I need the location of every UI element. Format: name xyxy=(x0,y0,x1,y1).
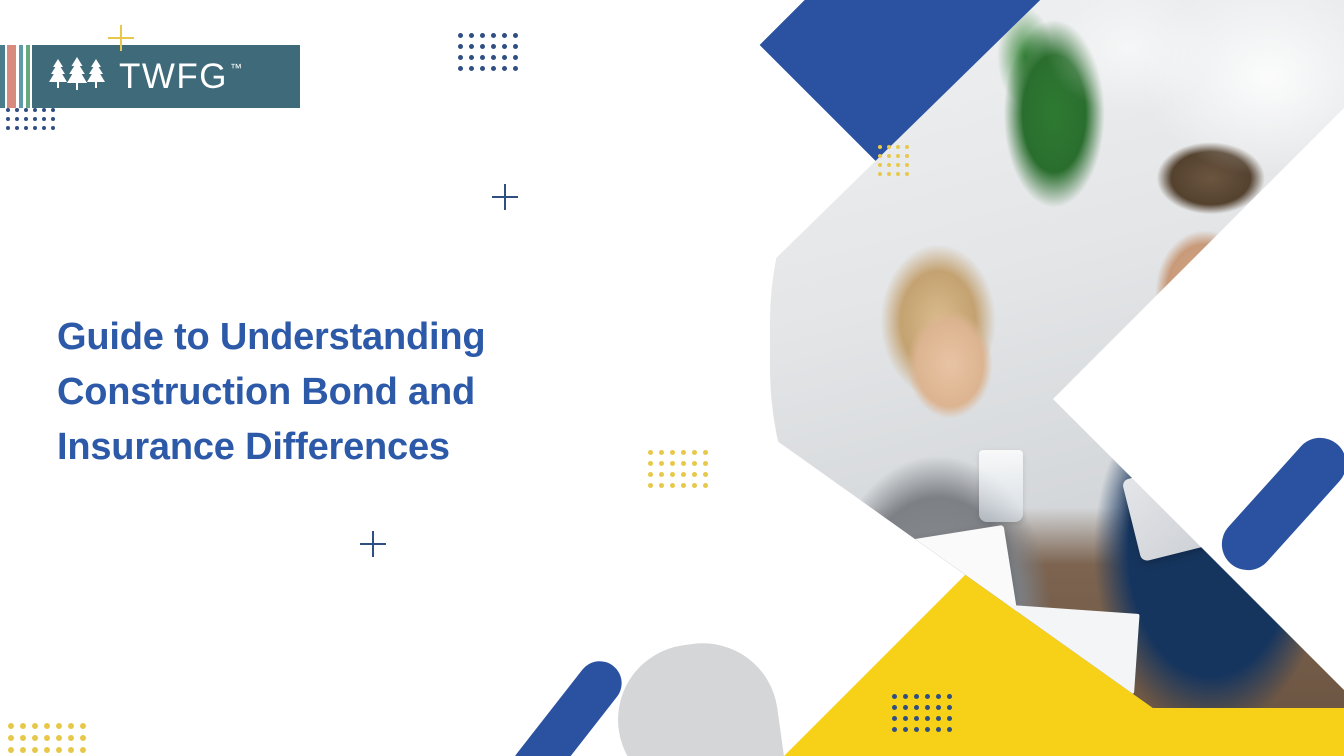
decor-dot xyxy=(56,723,62,729)
decor-dot xyxy=(458,33,463,38)
decor-dot xyxy=(947,694,952,699)
decor-dot xyxy=(936,716,941,721)
decor-dot xyxy=(648,483,653,488)
blue-pill-bottom-shape xyxy=(503,652,630,756)
logo-wordmark-text: TWFG xyxy=(119,59,228,94)
decor-dot xyxy=(502,33,507,38)
decor-dot xyxy=(905,163,909,167)
decor-dot xyxy=(502,44,507,49)
decor-dot xyxy=(703,472,708,477)
decor-dot xyxy=(33,108,37,112)
decor-dot xyxy=(469,33,474,38)
decor-dot xyxy=(24,126,28,130)
hero-artwork xyxy=(740,0,1344,756)
decor-dot xyxy=(68,723,74,729)
decor-dot xyxy=(878,145,882,149)
decor-dot xyxy=(491,55,496,60)
decor-dot xyxy=(32,723,38,729)
decor-dot xyxy=(692,450,697,455)
decor-dot xyxy=(80,747,86,753)
decor-dot xyxy=(905,154,909,158)
decor-dot xyxy=(458,66,463,71)
decor-dot xyxy=(80,735,86,741)
decor-dot xyxy=(6,117,10,121)
decor-dot xyxy=(892,727,897,732)
decor-dot xyxy=(925,705,930,710)
decor-dot xyxy=(903,727,908,732)
decor-dot xyxy=(892,705,897,710)
decor-dot xyxy=(947,716,952,721)
water-glass xyxy=(979,450,1023,522)
decor-dot xyxy=(491,44,496,49)
decor-dot xyxy=(878,172,882,176)
decor-dot xyxy=(56,735,62,741)
decor-dot xyxy=(681,472,686,477)
decor-dot xyxy=(56,747,62,753)
decor-dot xyxy=(692,483,697,488)
decor-dot xyxy=(659,450,664,455)
logo-wordmark: TWFG ™ xyxy=(119,59,242,94)
decor-dot xyxy=(914,716,919,721)
decor-dot xyxy=(42,126,46,130)
decor-dot xyxy=(20,747,26,753)
decor-dot xyxy=(15,108,19,112)
decor-dot xyxy=(892,716,897,721)
decor-dot xyxy=(80,723,86,729)
decor-dot xyxy=(936,694,941,699)
decor-dot xyxy=(914,694,919,699)
plus-yellow-top xyxy=(108,25,134,51)
decor-dot xyxy=(20,735,26,741)
decor-dot xyxy=(887,154,891,158)
decor-dot xyxy=(32,735,38,741)
decor-dot xyxy=(513,55,518,60)
decor-dot xyxy=(8,747,14,753)
decor-dot xyxy=(6,108,10,112)
decor-dot xyxy=(887,145,891,149)
decor-dot xyxy=(51,126,55,130)
decor-dot xyxy=(648,461,653,466)
decor-dot xyxy=(896,172,900,176)
decor-dot xyxy=(33,117,37,121)
dot-grid-yellow-bottom-left xyxy=(8,723,92,756)
decor-dot xyxy=(703,483,708,488)
decor-dot xyxy=(502,66,507,71)
decor-dot xyxy=(51,117,55,121)
decor-dot xyxy=(24,108,28,112)
decor-dot xyxy=(925,727,930,732)
twfg-logo[interactable]: TWFG ™ xyxy=(0,45,300,108)
decor-dot xyxy=(659,461,664,466)
decor-dot xyxy=(659,483,664,488)
trademark-symbol: ™ xyxy=(230,62,242,74)
decor-dot xyxy=(692,472,697,477)
decor-dot xyxy=(670,472,675,477)
decor-dot xyxy=(502,55,507,60)
dot-grid-yellow-mid xyxy=(648,450,714,494)
decor-dot xyxy=(480,66,485,71)
decor-dot xyxy=(480,33,485,38)
decor-dot xyxy=(914,727,919,732)
decor-dot xyxy=(24,117,28,121)
decor-dot xyxy=(681,483,686,488)
decor-dot xyxy=(42,108,46,112)
dot-grid-yellow-photo xyxy=(878,145,914,181)
decor-dot xyxy=(670,450,675,455)
decor-dot xyxy=(892,694,897,699)
three-pine-trees-icon xyxy=(46,57,108,97)
decor-dot xyxy=(458,55,463,60)
decor-dot xyxy=(491,66,496,71)
decor-dot xyxy=(681,461,686,466)
decor-dot xyxy=(903,705,908,710)
decor-dot xyxy=(947,705,952,710)
decor-dot xyxy=(692,461,697,466)
decor-dot xyxy=(648,472,653,477)
decor-dot xyxy=(887,172,891,176)
decor-dot xyxy=(8,723,14,729)
decor-dot xyxy=(20,723,26,729)
decor-dot xyxy=(896,145,900,149)
decor-dot xyxy=(469,44,474,49)
decor-dot xyxy=(703,450,708,455)
page-title: Guide to Understanding Construction Bond… xyxy=(57,310,617,475)
decor-dot xyxy=(925,716,930,721)
plus-blue-mid xyxy=(492,184,518,210)
decor-dot xyxy=(878,154,882,158)
decor-dot xyxy=(6,126,10,130)
decor-dot xyxy=(51,108,55,112)
decor-dot xyxy=(32,747,38,753)
decor-dot xyxy=(905,172,909,176)
decor-dot xyxy=(44,723,50,729)
decor-dot xyxy=(703,461,708,466)
decor-dot xyxy=(68,747,74,753)
dot-grid-navy-logo xyxy=(6,108,60,135)
decor-dot xyxy=(33,126,37,130)
decor-dot xyxy=(480,55,485,60)
decor-dot xyxy=(68,735,74,741)
plus-blue-low xyxy=(360,531,386,557)
decor-dot xyxy=(44,747,50,753)
decor-dot xyxy=(480,44,485,49)
decor-dot xyxy=(896,163,900,167)
decor-dot xyxy=(681,450,686,455)
decor-dot xyxy=(8,735,14,741)
decor-dot xyxy=(513,66,518,71)
decor-dot xyxy=(513,44,518,49)
hero-banner: TWFG ™ Guide to Understanding Constructi… xyxy=(0,0,1344,756)
decor-dot xyxy=(458,44,463,49)
decor-dot xyxy=(936,727,941,732)
decor-dot xyxy=(42,117,46,121)
decor-dot xyxy=(903,694,908,699)
decor-dot xyxy=(15,126,19,130)
decor-dot xyxy=(513,33,518,38)
decor-dot xyxy=(887,163,891,167)
decor-dot xyxy=(878,163,882,167)
logo-stripes xyxy=(0,45,32,108)
decor-dot xyxy=(670,461,675,466)
decor-dot xyxy=(896,154,900,158)
decor-dot xyxy=(936,705,941,710)
decor-dot xyxy=(670,483,675,488)
decor-dot xyxy=(659,472,664,477)
decor-dot xyxy=(925,694,930,699)
decor-dot xyxy=(947,727,952,732)
decor-dot xyxy=(914,705,919,710)
logo-box: TWFG ™ xyxy=(32,45,300,108)
decor-dot xyxy=(903,716,908,721)
dot-grid-navy-bottom-right xyxy=(892,694,958,738)
decor-dot xyxy=(469,55,474,60)
decor-dot xyxy=(15,117,19,121)
decor-dot xyxy=(905,145,909,149)
decor-dot xyxy=(44,735,50,741)
dot-grid-navy-top xyxy=(458,33,524,77)
decor-dot xyxy=(648,450,653,455)
decor-dot xyxy=(469,66,474,71)
decor-dot xyxy=(491,33,496,38)
